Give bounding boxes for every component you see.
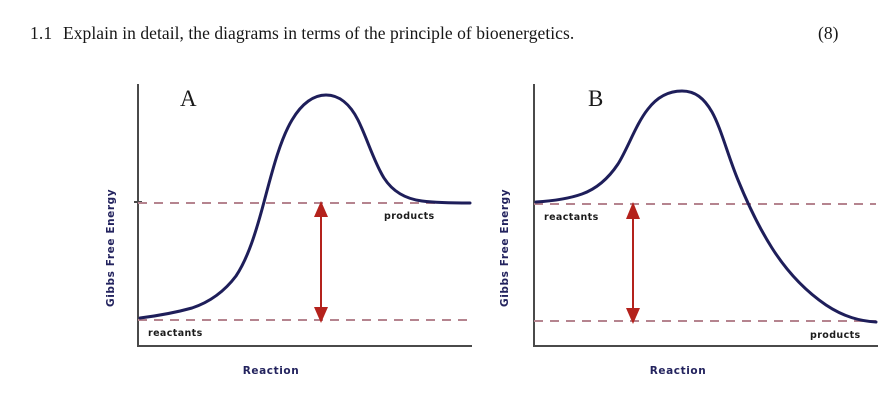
- reactants-label-b: reactants: [544, 212, 599, 223]
- energy-curve-b: [536, 91, 876, 322]
- energy-diagram-a: Gibbs Free Energy reactants products A: [96, 62, 476, 392]
- x-axis-label-a: Reaction: [243, 365, 300, 377]
- question-marks: (8): [818, 20, 838, 46]
- reactants-label-a: reactants: [148, 328, 203, 339]
- free-energy-change-arrow-b: [626, 202, 640, 324]
- question-number: 1.1: [30, 20, 52, 46]
- y-axis-label-b: Gibbs Free Energy: [499, 189, 511, 307]
- energy-diagram-b: Gibbs Free Energy reactants products B R…: [488, 62, 878, 392]
- figure-a: Gibbs Free Energy reactants products A: [96, 62, 476, 392]
- question-text: Explain in detail, the diagrams in terms…: [63, 20, 574, 46]
- figure-group: Gibbs Free Energy reactants products A: [0, 62, 878, 392]
- x-axis-label-b: Reaction: [650, 365, 707, 377]
- free-energy-change-arrow-a: [314, 201, 328, 323]
- products-label-b: products: [810, 330, 861, 341]
- figure-b: Gibbs Free Energy reactants products B R…: [488, 62, 878, 392]
- panel-letter-b: B: [588, 86, 603, 111]
- energy-curve-a: [140, 95, 470, 318]
- panel-letter-a: A: [180, 86, 197, 111]
- y-axis-label-a: Gibbs Free Energy: [105, 189, 117, 307]
- question-row: 1.1 Explain in detail, the diagrams in t…: [0, 20, 878, 50]
- products-label-a: products: [384, 211, 435, 222]
